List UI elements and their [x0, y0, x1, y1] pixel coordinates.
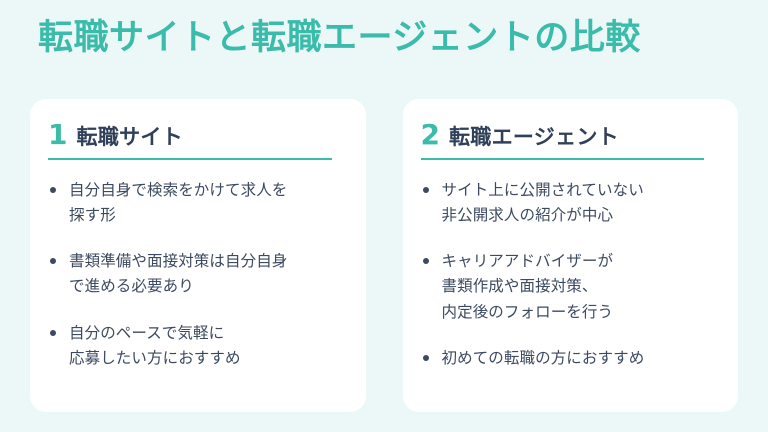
slide-root: 転職サイトと転職エージェントの比較 1 転職サイト 自分自身で検索をかけて求人を… — [0, 0, 768, 432]
card-job-agent: 2 転職エージェント サイト上に公開されていない 非公開求人の紹介が中心 キャリ… — [403, 99, 739, 412]
bullet-dot-icon — [50, 258, 56, 264]
bullet-line: 書類作成や面接対策、 — [442, 274, 719, 299]
bullet-line: 自分自身で検索をかけて求人を — [69, 178, 346, 203]
card-title: 転職サイト — [76, 126, 183, 149]
bullet-line: サイト上に公開されていない — [442, 178, 719, 203]
card-number-badge: 1 — [48, 121, 67, 149]
bullet-dot-icon — [423, 187, 429, 193]
bullet-line: で進める必要あり — [69, 274, 346, 299]
header-divider — [48, 158, 332, 160]
bullet-dot-icon — [50, 187, 56, 193]
list-item: サイト上に公開されていない 非公開求人の紹介が中心 — [420, 178, 719, 228]
bullet-line: キャリアアドバイザーが — [442, 249, 719, 274]
card-header: 1 転職サイト — [47, 121, 346, 149]
card-number-badge: 2 — [421, 121, 440, 149]
card-title: 転職エージェント — [449, 126, 619, 149]
list-item: 書類準備や面接対策は自分自身 で進める必要あり — [47, 249, 346, 299]
header-divider — [421, 158, 705, 160]
bullet-dot-icon — [423, 258, 429, 264]
bullet-list: サイト上に公開されていない 非公開求人の紹介が中心 キャリアアドバイザーが 書類… — [420, 178, 719, 371]
bullet-line: 応募したい方におすすめ — [69, 346, 346, 371]
bullet-dot-icon — [50, 330, 56, 336]
bullet-dot-icon — [423, 355, 429, 361]
bullet-line: 内定後のフォローを行う — [442, 300, 719, 325]
list-item: 自分のペースで気軽に 応募したい方におすすめ — [47, 321, 346, 371]
list-item: キャリアアドバイザーが 書類作成や面接対策、 内定後のフォローを行う — [420, 249, 719, 324]
page-title: 転職サイトと転職エージェントの比較 — [38, 17, 641, 61]
comparison-cards: 1 転職サイト 自分自身で検索をかけて求人を 探す形 書類準備や面接対策は自分自… — [30, 99, 738, 412]
list-item: 初めての転職の方におすすめ — [420, 346, 719, 371]
bullet-list: 自分自身で検索をかけて求人を 探す形 書類準備や面接対策は自分自身 で進める必要… — [47, 178, 346, 371]
bullet-line: 初めての転職の方におすすめ — [442, 346, 719, 371]
list-item: 自分自身で検索をかけて求人を 探す形 — [47, 178, 346, 228]
card-job-site: 1 転職サイト 自分自身で検索をかけて求人を 探す形 書類準備や面接対策は自分自… — [30, 99, 366, 412]
bullet-line: 自分のペースで気軽に — [69, 321, 346, 346]
bullet-line: 非公開求人の紹介が中心 — [442, 203, 719, 228]
bullet-line: 書類準備や面接対策は自分自身 — [69, 249, 346, 274]
card-header: 2 転職エージェント — [420, 121, 719, 149]
bullet-line: 探す形 — [69, 203, 346, 228]
